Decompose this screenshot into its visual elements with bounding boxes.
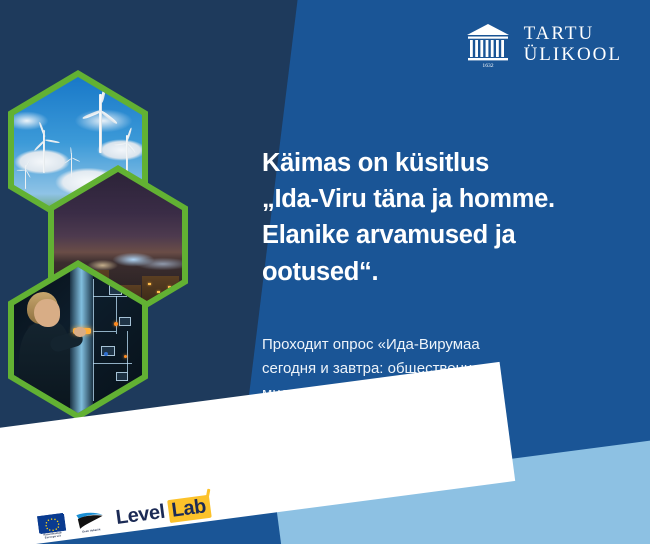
headline-line-4: ootused“. [262,254,647,290]
poster-canvas: 1632 TARTU ÜLIKOOL Käimas on küsitlus „I… [0,0,650,544]
estonia-logo: Eesti Vabariik [75,510,106,535]
eu-flag-icon [37,513,65,533]
tartu-ulikool-logo: 1632 TARTU ÜLIKOOL [464,22,622,68]
level-lab-word-lab: Lab [167,495,211,523]
headline-estonian: Käimas on küsitlus „Ida-Viru täna ja hom… [262,145,647,290]
university-building-icon: 1632 [464,22,512,68]
headline-line-3: Elanike arvamused ja [262,217,647,253]
university-name-line1: TARTU [524,24,622,45]
headline-line-2: „Ida-Viru täna ja homme. [262,181,647,217]
headline-line-1: Käimas on küsitlus [262,145,647,181]
founded-year: 1632 [482,63,493,68]
hexagon-image-stack [0,70,180,450]
eu-logo: Kaasrahastab Euroopa Liit [37,513,66,541]
subcopy-line-1: Проходит опрос «Ида-Вирумаа [262,333,602,357]
university-name-line2: ÜLIKOOL [524,45,622,66]
university-name: TARTU ÜLIKOOL [524,24,622,65]
level-lab-lab-text: Lab [170,496,207,522]
digital-interface-image [14,267,142,413]
